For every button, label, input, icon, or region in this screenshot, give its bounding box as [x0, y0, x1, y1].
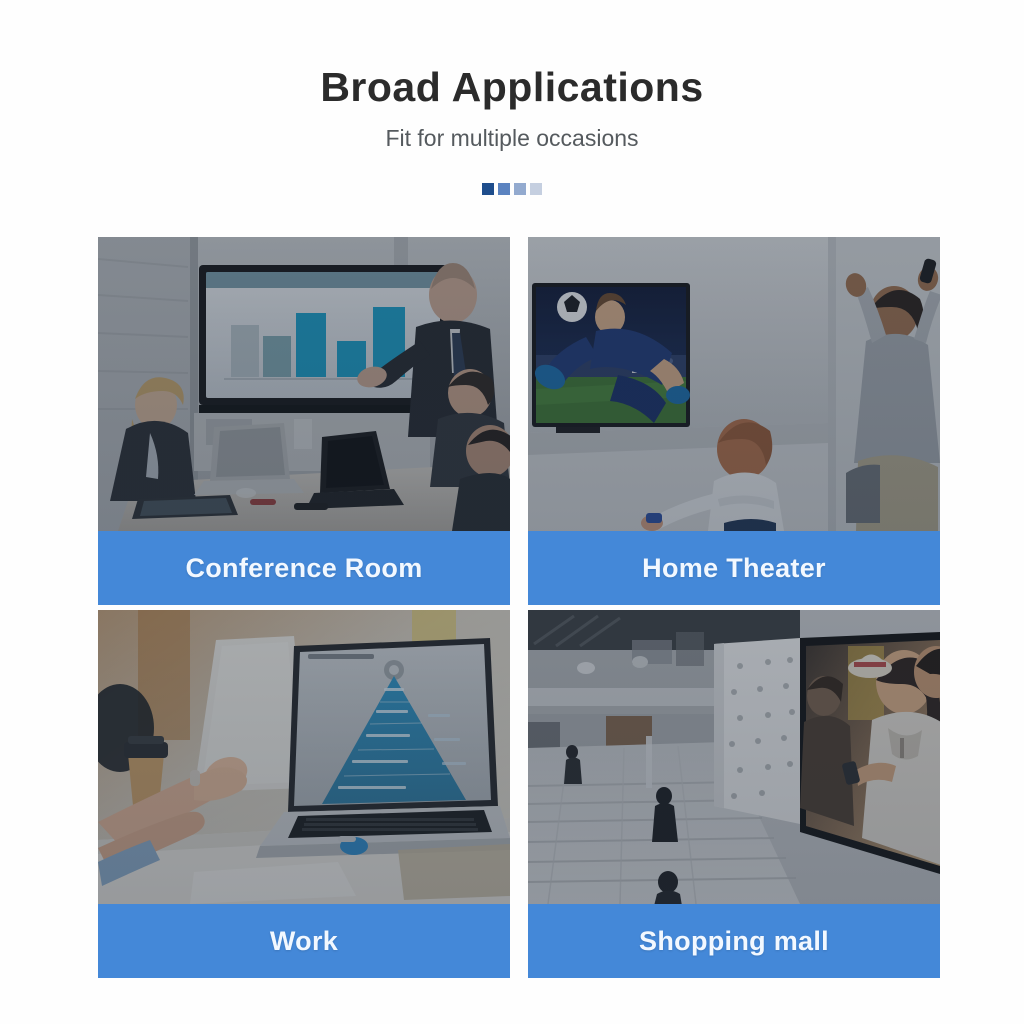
indicator-square-2[interactable] [498, 183, 510, 195]
broad-applications-page: Broad Applications Fit for multiple occa… [0, 0, 1024, 1024]
shopping-mall-photo [528, 610, 940, 904]
application-card-work[interactable]: Work [98, 610, 510, 978]
page-title: Broad Applications [0, 64, 1024, 111]
card-label-band: Home Theater [528, 531, 940, 605]
card-label-band: Work [98, 904, 510, 978]
card-label-text: Home Theater [642, 553, 826, 584]
card-label-band: Shopping mall [528, 904, 940, 978]
conference-room-photo [98, 237, 510, 531]
application-card-shopping-mall[interactable]: Shopping mall [528, 610, 940, 978]
home-theater-photo [528, 237, 940, 531]
application-card-home-theater[interactable]: Home Theater [528, 237, 940, 605]
application-card-grid: Conference Room [98, 237, 940, 978]
page-subtitle: Fit for multiple occasions [0, 125, 1024, 153]
indicator-square-4[interactable] [530, 183, 542, 195]
work-photo [98, 610, 510, 904]
indicator-square-1[interactable] [482, 183, 494, 195]
page-header: Broad Applications Fit for multiple occa… [0, 0, 1024, 195]
card-label-band: Conference Room [98, 531, 510, 605]
pagination-indicator[interactable] [0, 183, 1024, 195]
indicator-square-3[interactable] [514, 183, 526, 195]
card-label-text: Work [270, 926, 338, 957]
card-label-text: Conference Room [185, 553, 422, 584]
application-card-conference-room[interactable]: Conference Room [98, 237, 510, 605]
card-label-text: Shopping mall [639, 926, 829, 957]
